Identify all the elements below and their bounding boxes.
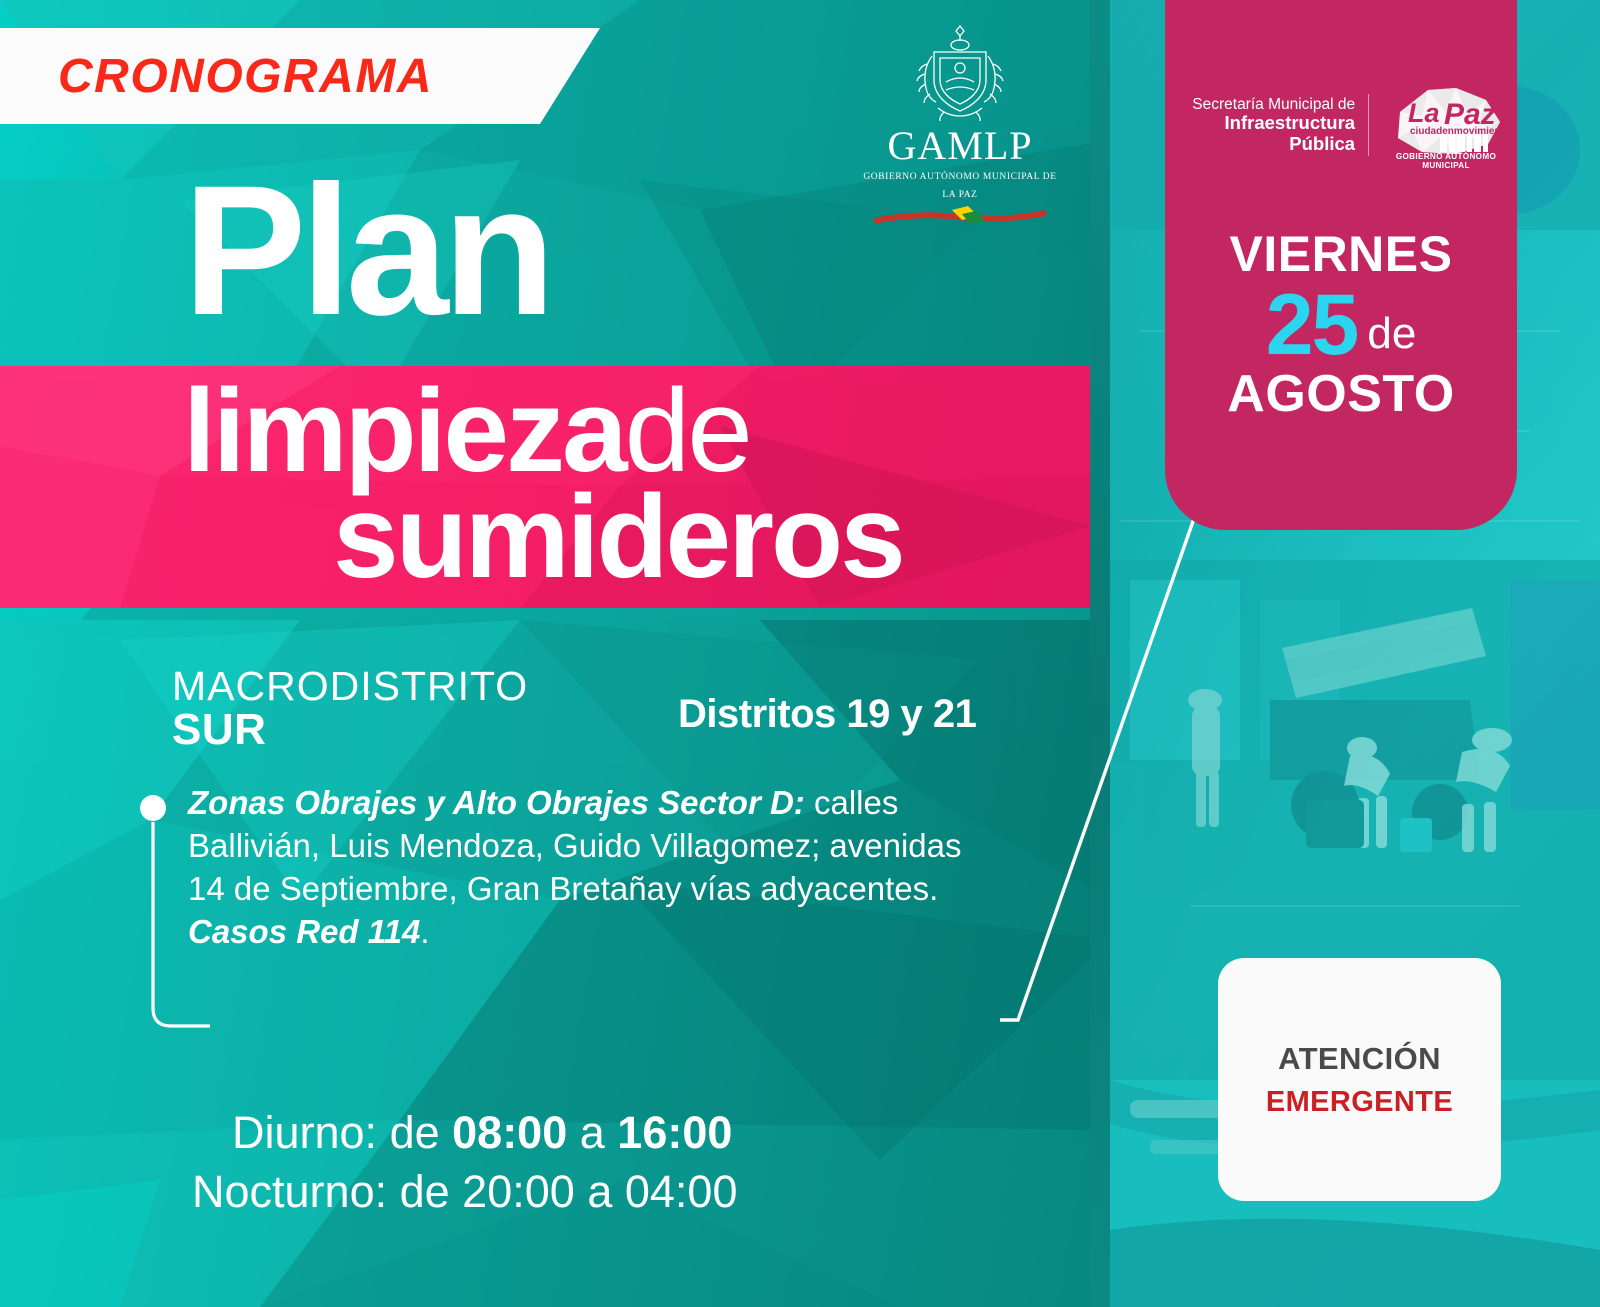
districts-label: Distritos 19 y 21 [678,692,976,737]
date-text-block: VIERNES 25de AGOSTO [1165,228,1517,421]
secretariat-logo-row: Secretaría Municipal de Infraestructura … [1170,82,1510,168]
schedule-day-label: Diurno: de [232,1107,440,1158]
zone-description: Zonas Obrajes y Alto Obrajes Sector D: c… [188,782,988,954]
zone-cases-period: . [420,913,429,950]
secretariat-text: Secretaría Municipal de Infraestructura … [1176,96,1355,155]
schedule-night-label: Nocturno: de [192,1166,450,1217]
lapaz-logo: La Paz ciudadenmovimiento GOBIERNO AUTÓN… [1382,82,1510,168]
logo-divider [1368,94,1369,156]
tricolor-ribbon-icon [872,204,1048,226]
schedule-night-end: 04:00 [625,1166,738,1217]
svg-text:ciudadenmovimiento: ciudadenmovimiento [1410,126,1510,137]
macrodistrict-block: MACRODISTRITO SUR [172,666,528,753]
gamlp-logo: GAMLP GOBIERNO AUTÓNOMO MUNICIPAL DE LA … [860,22,1060,192]
secretariat-line2: Infraestructura Pública [1176,113,1355,154]
schedule-night-start: 20:00 [462,1166,575,1217]
attention-title: ATENCIÓN [1278,1041,1441,1077]
cronograma-label: CRONOGRAMA [58,49,433,104]
attention-card: ATENCIÓN EMERGENTE [1218,958,1501,1201]
title-line-sumideros: sumideros [333,478,903,596]
date-preposition: de [1367,309,1416,358]
zone-heading: Zonas Obrajes y Alto Obrajes Sector D: [188,784,805,821]
schedule-day-end: 16:00 [617,1107,732,1158]
coat-of-arms-icon [904,22,1016,126]
lapaz-sublabel: GOBIERNO AUTÓNOMO MUNICIPAL [1382,152,1510,170]
schedule-day: Diurno: de 08:00 a 16:00 [232,1104,732,1163]
secretariat-line1: Secretaría Municipal de [1176,96,1355,113]
cronograma-ribbon: CRONOGRAMA [0,28,600,124]
pointer-diagonal-line [1000,500,1220,1060]
schedule-night: Nocturno: de 20:00 a 04:00 [192,1166,737,1218]
lapaz-polygon-icon: La Paz ciudadenmovimiento [1382,82,1510,162]
title-line-plan: Plan [183,172,550,331]
poster-root: CRONOGRAMA [0,0,1600,1307]
date-weekday: VIERNES [1165,228,1517,280]
gamlp-subtitle: GOBIERNO AUTÓNOMO MUNICIPAL DE LA PAZ [863,172,1056,200]
date-month: AGOSTO [1165,368,1517,421]
zone-cases: Casos Red 114 [188,913,420,950]
macrodistrict-label: MACRODISTRITO [172,666,528,708]
schedule-day-start: 08:00 [452,1107,567,1158]
macrodistrict-name: SUR [172,708,528,753]
date-day-row: 25de [1165,282,1517,368]
schedule-day-sep: a [580,1107,605,1158]
gamlp-acronym: GAMLP [887,123,1032,168]
attention-subtitle: EMERGENTE [1266,1086,1453,1119]
svg-text:La: La [1408,98,1440,128]
schedule-night-sep: a [587,1166,612,1217]
date-day: 25 [1266,277,1358,373]
